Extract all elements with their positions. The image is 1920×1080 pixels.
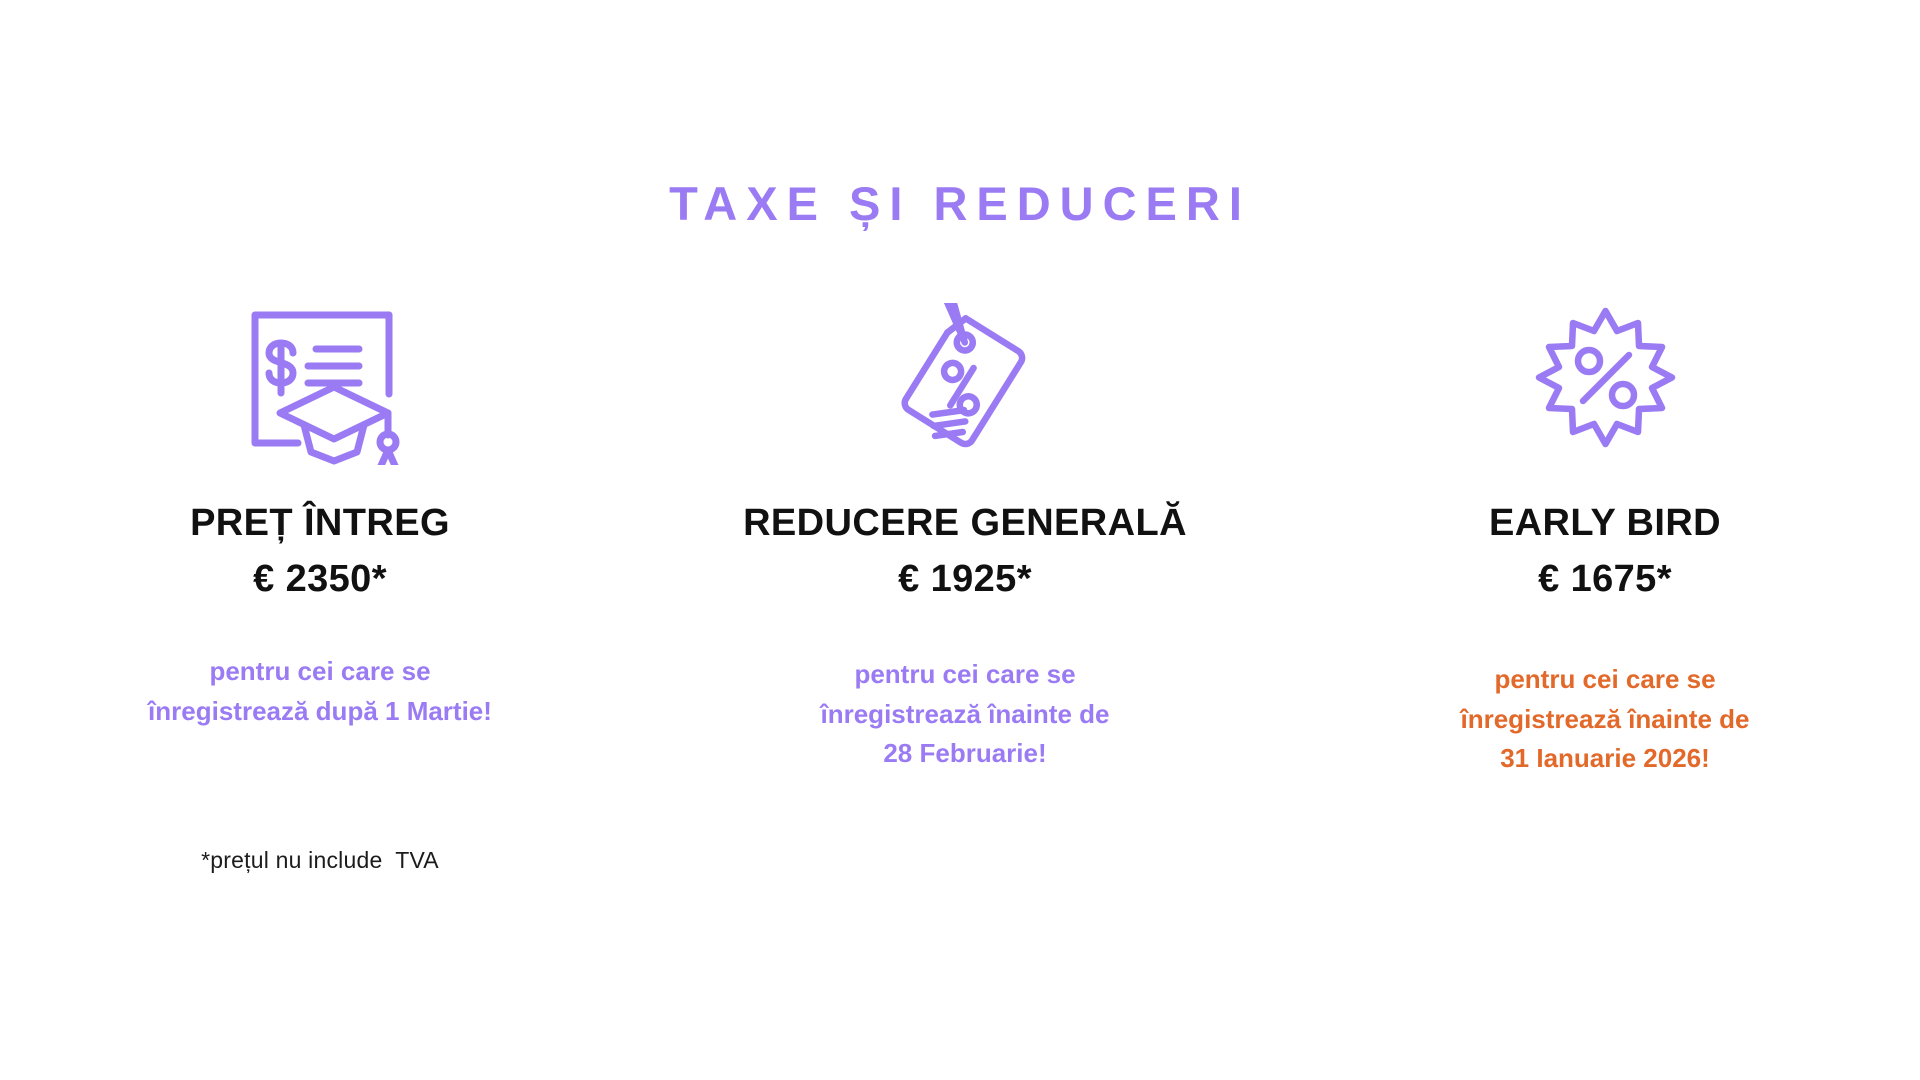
pricing-column-title: EARLY BIRD xyxy=(1340,502,1870,545)
pricing-column-title: PREȚ ÎNTREG xyxy=(60,502,580,545)
pricing-column-general-discount: REDUCERE GENERALĂ € 1925* pentru cei car… xyxy=(670,290,1260,774)
discount-starburst-badge-icon xyxy=(1340,290,1870,465)
page-title: TAXE ȘI REDUCERI xyxy=(0,178,1920,230)
pricing-columns: PREȚ ÎNTREG € 2350* pentru cei care se î… xyxy=(0,290,1920,930)
discount-price-tag-icon xyxy=(670,290,1260,465)
price-footnote: *prețul nu include TVA xyxy=(60,847,580,874)
pricing-infographic: TAXE ȘI REDUCERI xyxy=(0,0,1920,1080)
pricing-column-early-bird: EARLY BIRD € 1675* pentru cei care se în… xyxy=(1340,290,1870,779)
pricing-column-description: pentru cei care se înregistrează înainte… xyxy=(670,655,1260,774)
pricing-column-description: pentru cei care se înregistrează înainte… xyxy=(1340,660,1870,779)
pricing-column-price: € 1925* xyxy=(670,558,1260,601)
pricing-column-description: pentru cei care se înregistrează după 1 … xyxy=(60,652,580,731)
pricing-column-price: € 2350* xyxy=(60,558,580,601)
diploma-dollar-graduation-cap-icon xyxy=(60,290,580,465)
pricing-column-full-price: PREȚ ÎNTREG € 2350* pentru cei care se î… xyxy=(60,290,580,731)
pricing-column-title: REDUCERE GENERALĂ xyxy=(670,502,1260,545)
pricing-column-price: € 1675* xyxy=(1340,558,1870,601)
